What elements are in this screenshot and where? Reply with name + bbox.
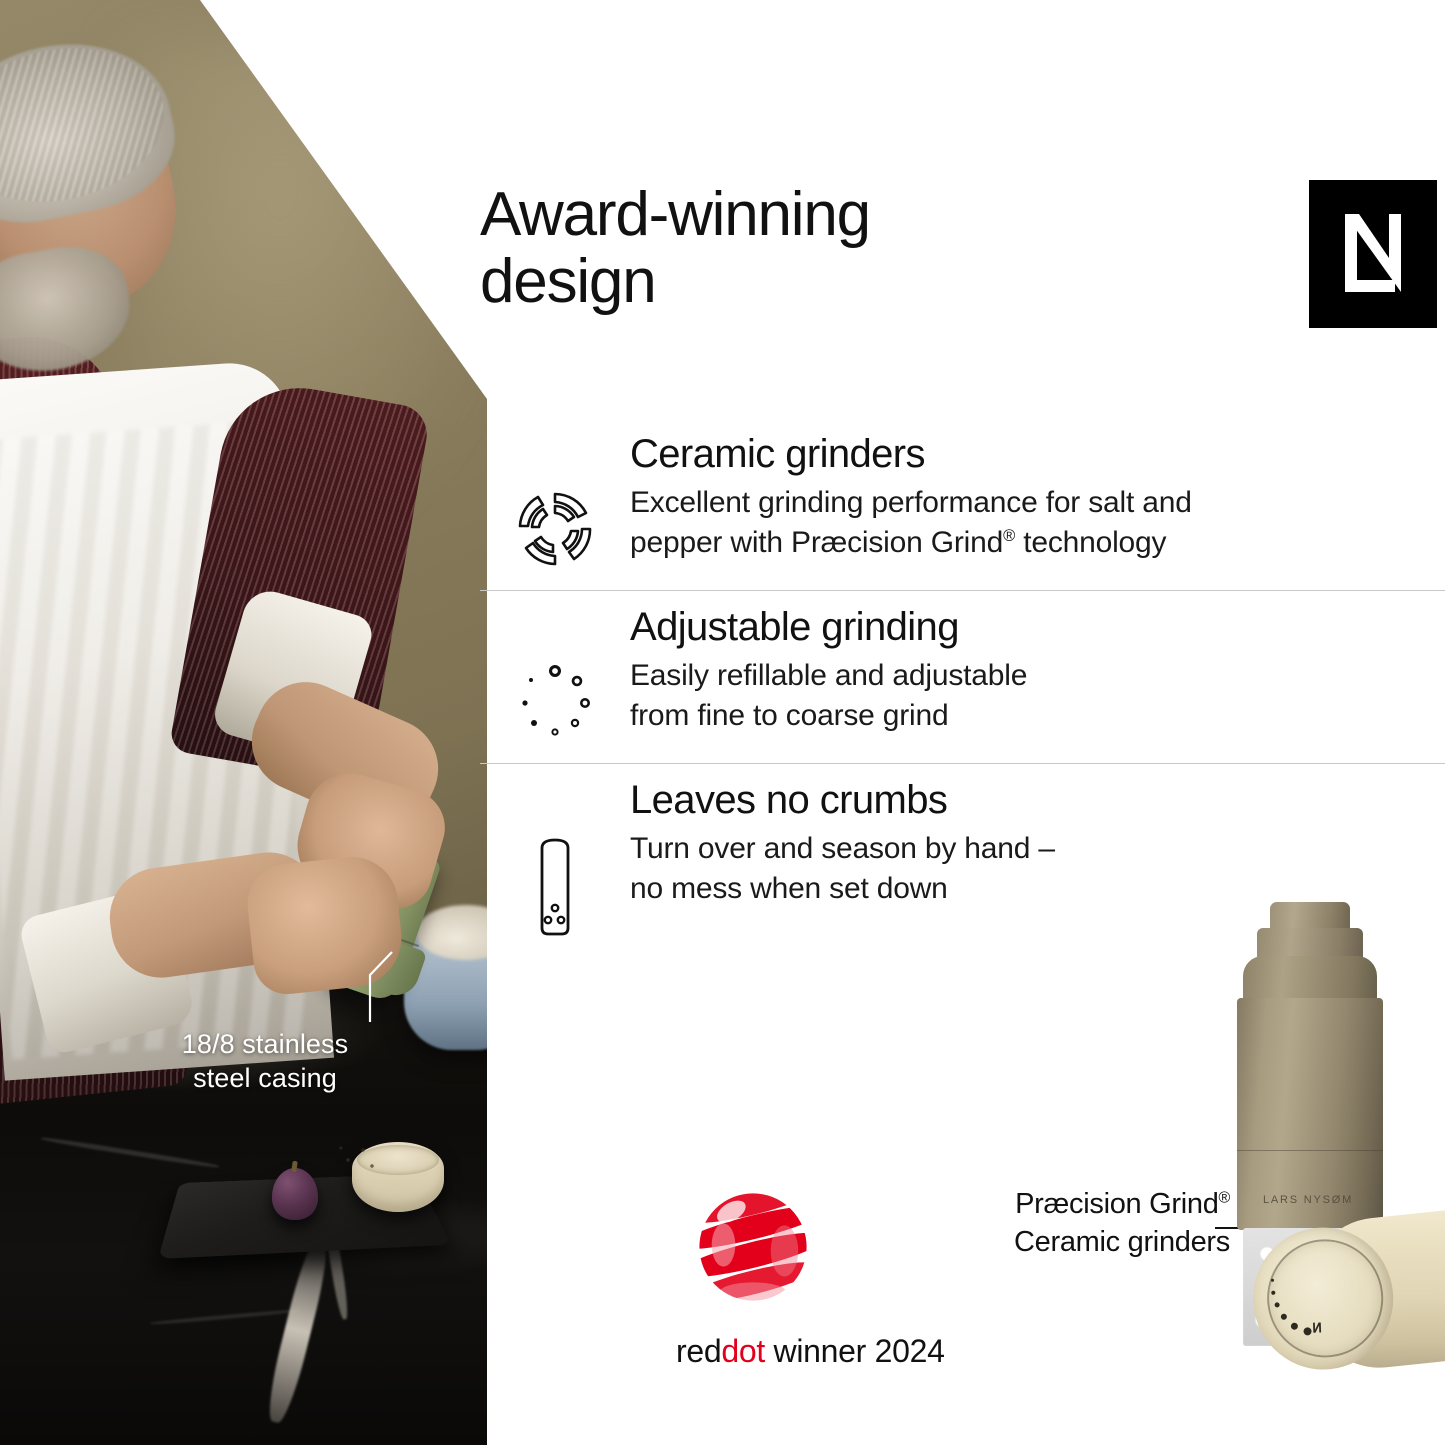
photo-caption: 18/8 stainless steel casing bbox=[120, 1028, 410, 1096]
feature-text: Ceramic grinders Excellent grinding perf… bbox=[630, 432, 1445, 563]
ceramic-burr-icon bbox=[512, 486, 598, 572]
headline-line1: Award-winning bbox=[480, 182, 1200, 249]
product-photography: LARS NYSØM Ͷ bbox=[1180, 880, 1445, 1445]
feature-description: Easily refillable and adjustable from fi… bbox=[630, 656, 1435, 736]
ground-pepper bbox=[330, 1140, 390, 1180]
tall-pepper-mill: LARS NYSØM bbox=[1235, 902, 1385, 1262]
feature-desc-line1: Turn over and season by hand – bbox=[630, 832, 1055, 865]
reddot-award-sphere-icon bbox=[694, 1188, 812, 1306]
feature-icon-wrap bbox=[480, 605, 630, 745]
mill-wordmark: LARS NYSØM bbox=[1263, 1194, 1353, 1206]
feature-title: Adjustable grinding bbox=[630, 605, 1435, 650]
brand-logo bbox=[1309, 180, 1437, 328]
award-label-dot: dot bbox=[721, 1333, 765, 1369]
feature-title: Ceramic grinders bbox=[630, 432, 1435, 477]
lars-nysom-monogram-icon bbox=[1309, 180, 1437, 328]
feature-text: Adjustable grinding Easily refillable an… bbox=[630, 605, 1445, 736]
feature-desc-line1: Excellent grinding performance for salt … bbox=[630, 486, 1192, 519]
award-label-red: red bbox=[676, 1333, 721, 1369]
headline-line2: design bbox=[480, 249, 1200, 316]
mill-body-crumbs-icon bbox=[512, 832, 598, 942]
cream-salt-mill: Ͷ bbox=[1241, 1201, 1445, 1407]
feature-desc-line2-pre: from fine to coarse grind bbox=[630, 699, 948, 732]
award-label: reddot winner 2024 bbox=[676, 1333, 1036, 1370]
feature-desc-line2-post: technology bbox=[1015, 526, 1166, 559]
photo-caption-line1: 18/8 stainless bbox=[120, 1028, 410, 1062]
page-title: Award-winning design bbox=[480, 182, 1200, 316]
grind-setting-dots bbox=[1269, 1271, 1336, 1343]
feature-desc-line1: Easily refillable and adjustable bbox=[630, 659, 1027, 692]
feature-icon-wrap bbox=[480, 778, 630, 942]
feature-row-ceramic-grinders: Ceramic grinders Excellent grinding perf… bbox=[480, 418, 1445, 591]
award-label-rest: winner 2024 bbox=[765, 1333, 945, 1369]
feature-title: Leaves no crumbs bbox=[630, 778, 1435, 823]
feature-row-adjustable-grinding: Adjustable grinding Easily refillable an… bbox=[480, 591, 1445, 764]
mill-seam bbox=[1237, 1150, 1383, 1151]
feature-list: Ceramic grinders Excellent grinding perf… bbox=[480, 418, 1445, 960]
mill-shoulder bbox=[1243, 956, 1377, 1004]
feature-description: Excellent grinding performance for salt … bbox=[630, 483, 1435, 563]
registered-mark: ® bbox=[1003, 527, 1015, 545]
grind-size-dots-icon bbox=[512, 659, 598, 745]
feature-icon-wrap bbox=[480, 432, 630, 572]
lifestyle-photo: LARS NYSØM 18/8 stainless steel casing bbox=[0, 0, 500, 1445]
feature-desc-line2-pre: no mess when set down bbox=[630, 872, 948, 905]
photo-caption-line2: steel casing bbox=[120, 1062, 410, 1096]
dial-logo-mark: Ͷ bbox=[1312, 1320, 1321, 1336]
product-feature-graphic: LARS NYSØM 18/8 stainless steel casing A… bbox=[0, 0, 1445, 1445]
fig-fruit bbox=[272, 1168, 318, 1220]
feature-desc-line2-pre: pepper with Præcision Grind bbox=[630, 526, 1003, 559]
hand-left bbox=[244, 853, 407, 998]
